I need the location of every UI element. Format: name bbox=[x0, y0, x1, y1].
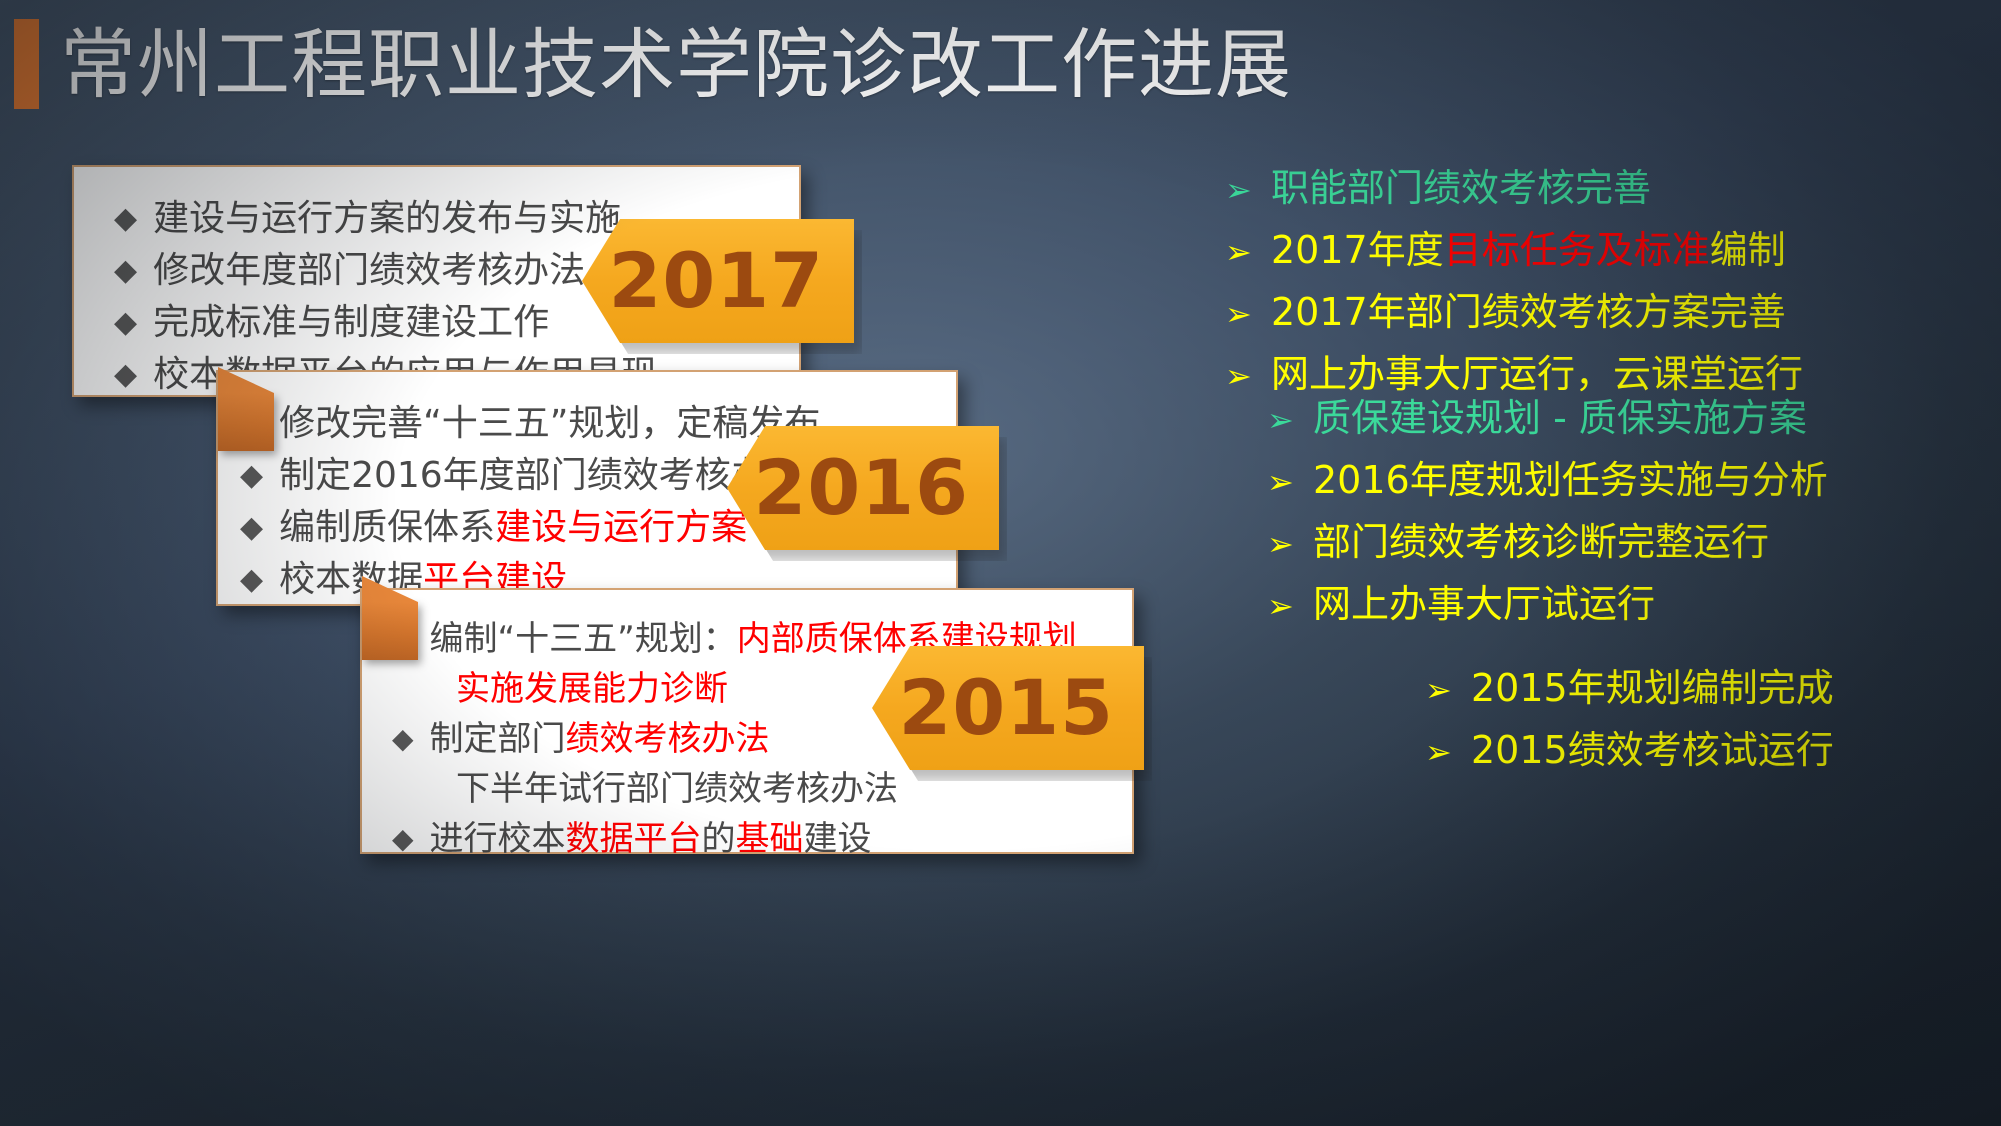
fold-tab-2017 bbox=[218, 393, 274, 451]
text-segment: 数据平台 bbox=[566, 819, 702, 859]
right-item-text: 部门绩效考核诊断完整运行 bbox=[1313, 514, 1769, 570]
text-segment: 2017年部门绩效考核方案完善 bbox=[1271, 290, 1786, 334]
arrow-bullet-icon: ➢ bbox=[1267, 590, 1313, 622]
text-segment: 建设与运行方案 bbox=[495, 507, 747, 548]
title-accent-bar bbox=[14, 19, 39, 109]
text-segment: 修改完善“十三五”规划，定稿发布 bbox=[279, 403, 820, 444]
right-item-text: 2015年规划编制完成 bbox=[1471, 660, 1834, 716]
arrow-bullet-icon: ➢ bbox=[1225, 174, 1271, 206]
card-bullet-text: 制定2016年度部门绩效考核办法 bbox=[279, 450, 803, 502]
diamond-bullet-icon: ◆ bbox=[114, 297, 137, 349]
right-list-item: ➢2015年规划编制完成 bbox=[1425, 660, 1834, 716]
arrow-bullet-icon: ➢ bbox=[1225, 236, 1271, 268]
year-arrow-2015[interactable]: 2015 bbox=[872, 646, 1144, 770]
right-item-text: 网上办事大厅试运行 bbox=[1313, 576, 1655, 632]
diamond-bullet-icon: ◆ bbox=[114, 245, 137, 297]
text-segment: 绩效考核办法 bbox=[566, 719, 770, 759]
card-bullet-text: 建设与运行方案的发布与实施 bbox=[153, 193, 621, 245]
arrow-bullet-icon: ➢ bbox=[1225, 298, 1271, 330]
text-segment: 质保建设规划 - 质保实施方案 bbox=[1313, 396, 1807, 440]
text-segment: 部门绩效考核诊断完整运行 bbox=[1313, 520, 1769, 564]
slide-header: 常州工程职业技术学院诊改工作进展 bbox=[0, 0, 2001, 126]
right-list-item: ➢网上办事大厅试运行 bbox=[1267, 576, 1828, 632]
year-label-2017: 2017 bbox=[608, 243, 854, 319]
right-group-2015: ➢2015年规划编制完成➢2015绩效考核试运行 bbox=[1425, 660, 1834, 784]
text-segment: 修改年度部门绩效考核办法 bbox=[153, 250, 585, 291]
text-segment: 2017年度 bbox=[1271, 228, 1444, 272]
text-segment: 建设与运行方案的发布与实施 bbox=[153, 198, 621, 239]
right-list-item: ➢2017年度目标任务及标准编制 bbox=[1225, 222, 1803, 278]
right-list-item: ➢质保建设规划 - 质保实施方案 bbox=[1267, 390, 1828, 446]
card-bullet-text: 编制质保体系建设与运行方案 bbox=[279, 502, 747, 554]
arrow-bullet-icon: ➢ bbox=[1267, 404, 1313, 436]
arrow-bullet-icon: ➢ bbox=[1267, 466, 1313, 498]
diamond-bullet-icon: ◆ bbox=[392, 814, 414, 864]
right-list-item: ➢职能部门绩效考核完善 bbox=[1225, 160, 1803, 216]
right-item-text: 2015绩效考核试运行 bbox=[1471, 722, 1834, 778]
text-segment: 目标任务及标准 bbox=[1444, 228, 1710, 272]
text-segment: 建设 bbox=[804, 819, 872, 859]
text-segment: 2016年度规划任务实施与分析 bbox=[1313, 458, 1828, 502]
card-bullet-text: 完成标准与制度建设工作 bbox=[153, 297, 549, 349]
text-segment: 网上办事大厅试运行 bbox=[1313, 582, 1655, 626]
right-item-text: 职能部门绩效考核完善 bbox=[1271, 160, 1651, 216]
year-label-2016: 2016 bbox=[753, 450, 999, 526]
diamond-bullet-icon: ◆ bbox=[392, 714, 414, 764]
year-label-2015: 2015 bbox=[898, 670, 1144, 746]
right-item-text: 2017年部门绩效考核方案完善 bbox=[1271, 284, 1786, 340]
arrow-bullet-icon: ➢ bbox=[1225, 360, 1271, 392]
right-list-item: ➢2015绩效考核试运行 bbox=[1425, 722, 1834, 778]
right-list-item: ➢2016年度规划任务实施与分析 bbox=[1267, 452, 1828, 508]
text-segment: 制定2016年度部门绩效考核办法 bbox=[279, 455, 803, 496]
year-arrow-2017[interactable]: 2017 bbox=[582, 219, 854, 343]
year-arrow-2016[interactable]: 2016 bbox=[727, 426, 999, 550]
right-group-2017: ➢职能部门绩效考核完善➢2017年度目标任务及标准编制➢2017年部门绩效考核方… bbox=[1225, 160, 1803, 408]
text-segment: 编制 bbox=[1710, 228, 1786, 272]
text-segment: 进行校本 bbox=[430, 819, 566, 859]
diamond-bullet-icon: ◆ bbox=[240, 554, 263, 606]
arrow-bullet-icon: ➢ bbox=[1425, 674, 1471, 706]
right-list-item: ➢部门绩效考核诊断完整运行 bbox=[1267, 514, 1828, 570]
right-item-text: 质保建设规划 - 质保实施方案 bbox=[1313, 390, 1807, 446]
page-title: 常州工程职业技术学院诊改工作进展 bbox=[60, 10, 1292, 120]
right-item-text: 2017年度目标任务及标准编制 bbox=[1271, 222, 1786, 278]
card-bullet-text: 修改年度部门绩效考核办法 bbox=[153, 245, 585, 297]
text-segment: 基础 bbox=[736, 819, 804, 859]
arrow-bullet-icon: ➢ bbox=[1425, 736, 1471, 768]
arrow-bullet-icon: ➢ bbox=[1267, 528, 1313, 560]
card-bullet-text: 制定部门绩效考核办法 bbox=[430, 714, 770, 764]
diamond-bullet-icon: ◆ bbox=[114, 193, 137, 245]
text-segment: 职能部门绩效考核完善 bbox=[1271, 166, 1651, 210]
fold-tab-2016 bbox=[362, 602, 418, 660]
text-segment: 的 bbox=[702, 819, 736, 859]
text-segment: 完成标准与制度建设工作 bbox=[153, 302, 549, 343]
slide-canvas: 常州工程职业技术学院诊改工作进展 ◆建设与运行方案的发布与实施◆修改年度部门绩效… bbox=[0, 0, 2001, 1126]
diamond-bullet-icon: ◆ bbox=[240, 502, 263, 554]
text-segment: 编制“十三五”规划： bbox=[430, 619, 737, 659]
diamond-bullet-icon: ◆ bbox=[114, 349, 137, 401]
right-item-text: 2016年度规划任务实施与分析 bbox=[1313, 452, 1828, 508]
text-segment: 编制质保体系 bbox=[279, 507, 495, 548]
card-bullet-text: 进行校本数据平台的基础建设 bbox=[430, 814, 872, 864]
text-segment: 制定部门 bbox=[430, 719, 566, 759]
card-bullet-item: ◆进行校本数据平台的基础建设 bbox=[392, 814, 1162, 864]
text-segment: 2015绩效考核试运行 bbox=[1471, 728, 1834, 772]
diamond-bullet-icon: ◆ bbox=[240, 450, 263, 502]
right-list-item: ➢2017年部门绩效考核方案完善 bbox=[1225, 284, 1803, 340]
right-group-2016: ➢质保建设规划 - 质保实施方案➢2016年度规划任务实施与分析➢部门绩效考核诊… bbox=[1267, 390, 1828, 638]
card-bullet-text: 修改完善“十三五”规划，定稿发布 bbox=[279, 398, 820, 450]
text-segment: 2015年规划编制完成 bbox=[1471, 666, 1834, 710]
